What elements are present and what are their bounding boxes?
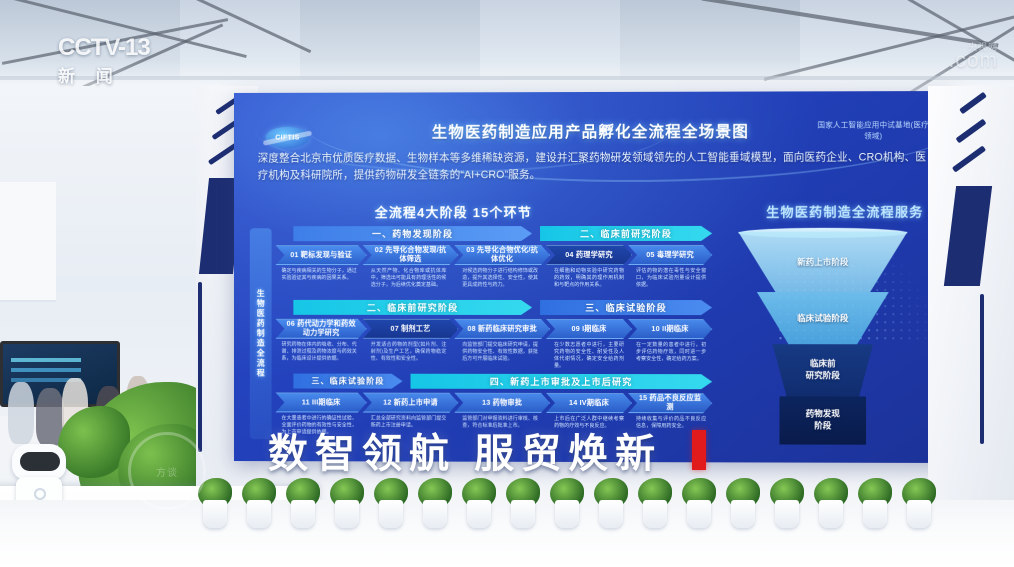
- step-chip-12[interactable]: 12 新药上市申请: [363, 393, 458, 413]
- plant-pot: [467, 500, 491, 528]
- funnel-segment-trial: 临床试验阶段: [757, 292, 889, 344]
- section-heading-left: 全流程4大阶段 15个环节: [375, 202, 532, 221]
- step-body-10: 在一定数量的患者中进行，初步评估药物疗效，同时进一步考察安全性，确定给药方案。: [632, 342, 710, 363]
- step-chip-02[interactable]: 02 先导化合物发现/抗体筛选: [363, 245, 458, 265]
- spine-text: 生物医药制造全流程: [255, 289, 266, 379]
- plant-pot: [907, 500, 931, 528]
- pillar-stripe: [955, 119, 986, 144]
- plant-pot: [379, 500, 403, 528]
- plant-pot: [687, 500, 711, 528]
- step-body-04: 在细胞和动物实验中研究药物的药效，明确其药理作用机制和与靶点的作用关系。: [550, 268, 628, 289]
- process-spine-label: 生物医药制造全流程: [250, 228, 272, 439]
- plant-pot: [511, 500, 535, 528]
- plant-pot: [555, 500, 579, 528]
- funnel-segment-preclinic: 临床前 研究阶段: [772, 344, 873, 396]
- step-body-01: 确定与疾病相关的生物分子，通过实验验证其与疾病的因果关系。: [278, 268, 361, 282]
- step-chip-13[interactable]: 13 药物审批: [454, 393, 550, 413]
- step-chip-08[interactable]: 08 新药临床研究审批: [454, 319, 550, 339]
- screenshot-root: CIFTIS 生物医药制造应用产品孵化全流程全场景图 国家人工智能应用中试基地(…: [0, 0, 1014, 567]
- section-heading-row: 全流程4大阶段 15个环节 生物医药制造全流程服务: [258, 202, 930, 223]
- booth-wall-panel: [0, 182, 56, 302]
- stage-banner-1: 一、药物发现阶段: [293, 226, 532, 241]
- step-body-07: 开发适合药物的剂型(如片剂、注射剂)及生产工艺，确保药物稳定性、有效性和安全性。: [367, 342, 451, 363]
- step-chip-04[interactable]: 04 药理学研究: [546, 245, 632, 265]
- site-watermark: 央视网 .com: [948, 40, 998, 73]
- plant-pot: [731, 500, 755, 528]
- cctv-channel-logo: CCTV-13 新 闻: [58, 36, 188, 88]
- plant-pot: [643, 500, 667, 528]
- step-chip-01[interactable]: 01 靶标发现与验证: [276, 245, 367, 265]
- pillar-stripe: [952, 145, 986, 172]
- stage-banner-4: 四、新药上市审批及上市后研究: [411, 374, 713, 389]
- plant-pot: [775, 500, 799, 528]
- step-body-09: 在少数志愿者中进行，主要研究药物的安全性、耐受性及人体代谢情况，确定安全给药剂量…: [550, 342, 628, 370]
- plant-pot: [863, 500, 887, 528]
- pillar-panel: [944, 186, 992, 286]
- board-badge-right: 国家人工智能应用中试基地(医疗领域): [817, 119, 930, 142]
- plant-pot: [819, 500, 843, 528]
- drug-development-funnel: 新药上市阶段 临床试验阶段 临床前 研究阶段 药物发现 阶段: [732, 232, 913, 445]
- step-body-08: 向监管部门提交临床研究申请，提供药物安全性、有效性数据，获批后方可开展临床试验。: [458, 342, 542, 363]
- process-flow-diagram: 一、药物发现阶段 二、临床前研究阶段 01 靶标发现与验证 02 先导化合物发现…: [276, 226, 713, 442]
- flow-row-3: 三、临床试验阶段 四、新药上市审批及上市后研究 11 III期临床 12 新药上…: [276, 374, 713, 375]
- step-body-05: 评估药物的潜在毒性与安全窗口，为临床试验剂量设计提供依据。: [632, 268, 710, 289]
- step-chip-06[interactable]: 06 药代动力学和药效动力学研究: [276, 319, 367, 339]
- exhibition-display-board: CIFTIS 生物医药制造应用产品孵化全流程全场景图 国家人工智能应用中试基地(…: [234, 91, 950, 463]
- program-station-bug: 方谈: [128, 432, 206, 510]
- section-heading-right: 生物医药制造全流程服务: [766, 202, 923, 221]
- caption-text: 数智领航 服贸焕新: [268, 421, 662, 479]
- step-chip-11[interactable]: 11 III期临床: [276, 392, 367, 412]
- plant-pot: [335, 500, 359, 528]
- stage-banner-3c: 三、临床试验阶段: [293, 374, 402, 389]
- pillar-edge: [198, 282, 202, 452]
- pillar-stripe: [959, 92, 987, 114]
- cctv-logo-text: CCTV-13: [58, 36, 188, 60]
- news-caption: 数智领航 服贸焕新: [268, 424, 768, 476]
- robot-face-screen: [20, 452, 60, 471]
- step-body-03: 对候选药物分子进行结构修饰或改造，提升其选择性、安全性，使其更具成药性与药力。: [458, 268, 542, 289]
- step-chip-10[interactable]: 10 II期临床: [628, 319, 712, 339]
- booth-pillar-right: [928, 86, 1014, 506]
- watermark-domain: .com: [948, 49, 998, 72]
- step-chip-07[interactable]: 07 制剂工艺: [363, 319, 458, 339]
- caption-cursor-block: [692, 430, 706, 470]
- stage-banner-2: 二、临床前研究阶段: [540, 226, 712, 241]
- stage-banner-2b: 二、临床前研究阶段: [293, 300, 532, 315]
- plant-pot: [599, 500, 623, 528]
- plant-pot: [247, 500, 271, 528]
- board-description: 深度整合北京市优质医疗数据、生物样本等多维稀缺资源，建设并汇聚药物研发领域领先的…: [258, 149, 930, 184]
- step-chip-15[interactable]: 15 药品不良反应监测: [628, 393, 712, 413]
- step-body-06: 研究药物在体内的吸收、分布、代谢、排泄过程及药物浓度与药效关系，为临床设计提供依…: [278, 342, 361, 363]
- step-chip-03[interactable]: 03 先导化合物优化/抗体优化: [454, 245, 550, 265]
- visitor-figure: [8, 382, 34, 444]
- stage-banner-3: 三、临床试验阶段: [540, 300, 712, 315]
- funnel-segment-launch: 新药上市阶段: [738, 232, 907, 292]
- plant-pot: [423, 500, 447, 528]
- step-chip-14[interactable]: 14 IV期临床: [546, 393, 632, 413]
- plant-pot: [291, 500, 315, 528]
- pillar-edge: [980, 294, 984, 444]
- cctv-logo-sub: 新 闻: [58, 62, 188, 87]
- plant-pot: [203, 500, 227, 528]
- step-body-02: 从天然产物、化合物库或抗体库中，筛选出可能具有药理活性的候选分子，为后续优化奠定…: [367, 268, 451, 289]
- step-chip-09[interactable]: 09 I期临床: [546, 319, 632, 339]
- funnel-segment-discovery: 药物发现 阶段: [779, 396, 866, 444]
- step-chip-05[interactable]: 05 毒理学研究: [628, 245, 712, 265]
